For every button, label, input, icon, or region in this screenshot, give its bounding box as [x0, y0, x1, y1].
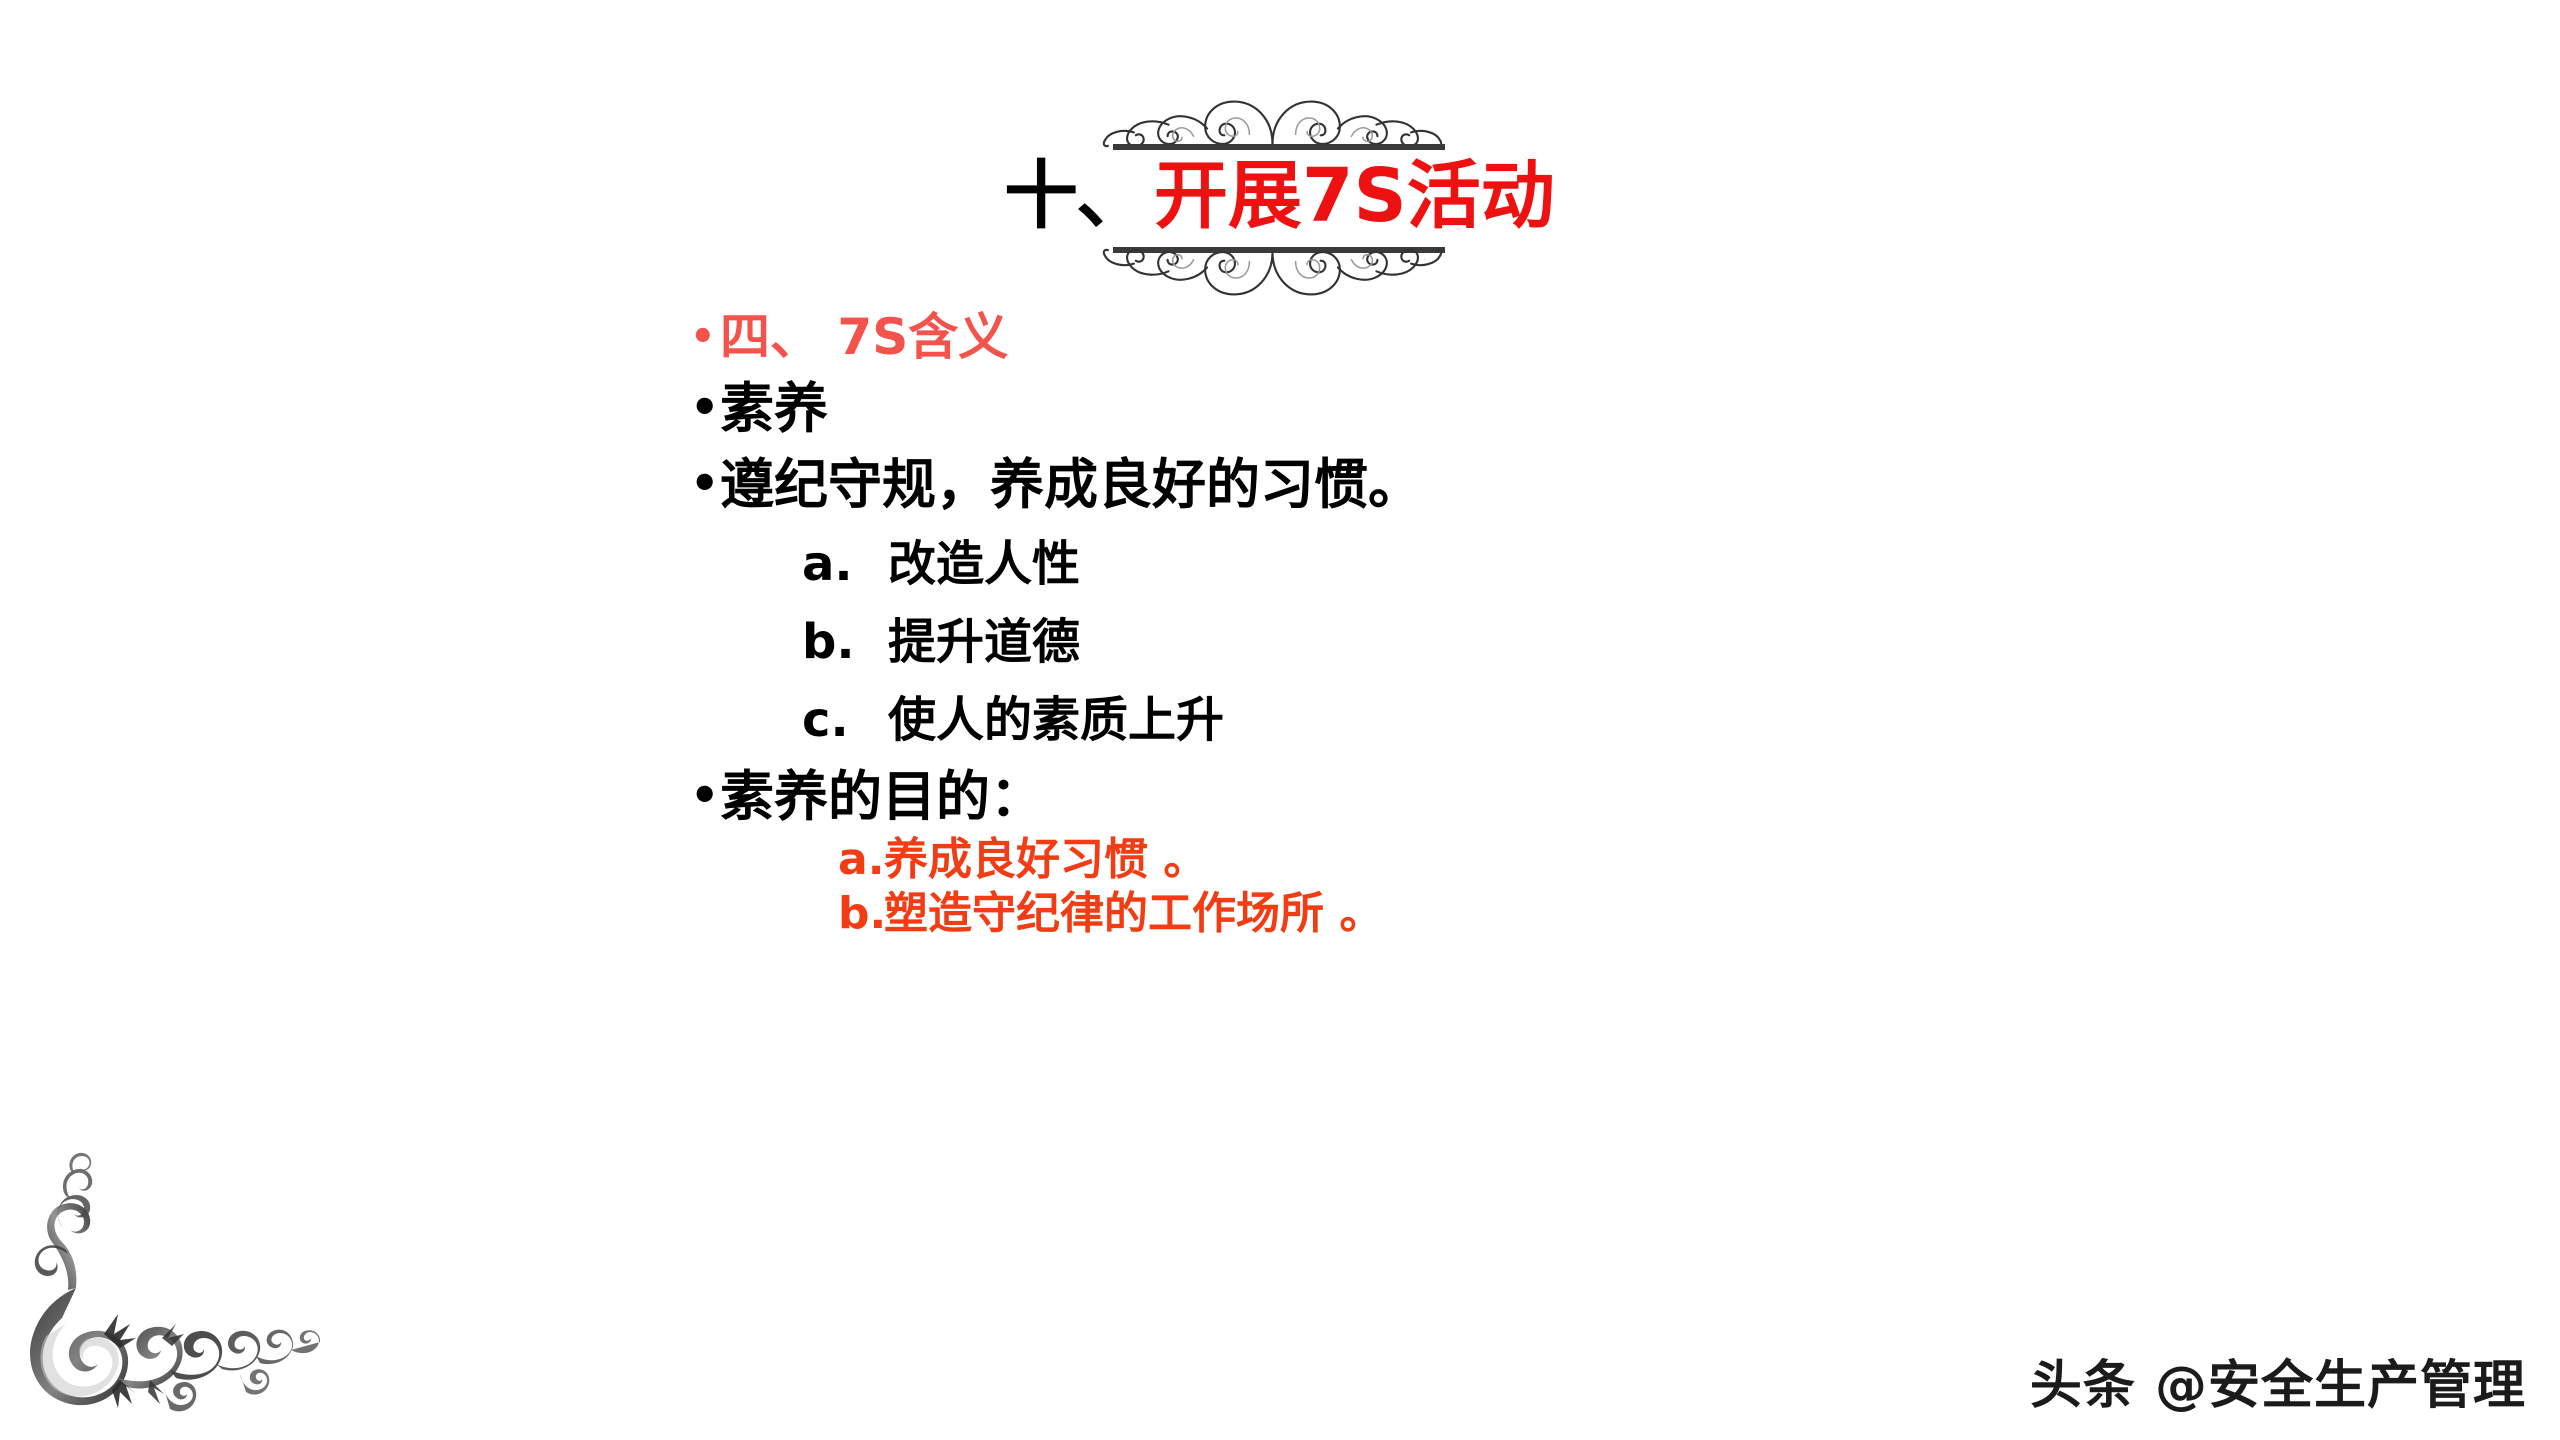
- bullet-item-7s-meaning: • 四、 7S含义: [690, 312, 2190, 362]
- sub-item-b-improve-morality: b. 提升道德: [690, 618, 2190, 666]
- purpose-item-b-disciplined-workplace: b. 塑造守纪律的工作场所 。: [690, 892, 2190, 936]
- list-marker: b.: [838, 892, 884, 936]
- bullet-dot-icon: •: [690, 460, 720, 506]
- title-main: 开展7S活动: [1154, 159, 1555, 233]
- bullet-item-discipline: • 遵纪守规，养成良好的习惯。: [690, 458, 2190, 512]
- slide-body: • 四、 7S含义 • 素养 • 遵纪守规，养成良好的习惯。 a. 改造人性 b…: [690, 312, 2190, 936]
- list-marker: a.: [838, 838, 884, 882]
- bullet-item-suyang: • 素养: [690, 382, 2190, 436]
- corner-flourish-icon: [14, 1142, 334, 1432]
- bullet-label: 遵纪守规，养成良好的习惯。: [720, 458, 1422, 512]
- slide-title-block: 十、 开展7S活动: [1020, 86, 1580, 316]
- watermark-text: 头条 @安全生产管理: [2030, 1343, 2526, 1418]
- flourish-swirl-icon: [1080, 86, 1465, 148]
- bullet-label: 四、 7S含义: [720, 312, 1008, 362]
- slide-canvas: 十、 开展7S活动: [0, 0, 2560, 1440]
- list-marker: a.: [802, 540, 888, 588]
- page-title: 十、 开展7S活动: [1004, 144, 1604, 248]
- flourish-swirl-icon: [1080, 248, 1465, 310]
- title-rule-bottom: [1113, 247, 1445, 253]
- sub-item-label: 改造人性: [888, 540, 1080, 588]
- sub-item-c-raise-quality: c. 使人的素质上升: [690, 696, 2190, 744]
- bullet-dot-icon: •: [690, 317, 720, 357]
- bullet-label: 素养的目的：: [720, 770, 1044, 824]
- bullet-label: 素养: [720, 382, 828, 436]
- purpose-item-label: 塑造守纪律的工作场所 。: [884, 892, 1383, 936]
- sub-item-label: 提升道德: [888, 618, 1080, 666]
- bullet-dot-icon: •: [690, 384, 720, 430]
- bullet-item-purpose: • 素养的目的：: [690, 770, 2190, 824]
- list-marker: b.: [802, 618, 888, 666]
- bullet-dot-icon: •: [690, 772, 720, 818]
- purpose-item-a-good-habits: a. 养成良好习惯 。: [690, 838, 2190, 882]
- sub-item-label: 使人的素质上升: [888, 696, 1224, 744]
- list-marker: c.: [802, 696, 888, 744]
- title-prefix: 十、: [1004, 159, 1148, 233]
- sub-item-a-reform-human-nature: a. 改造人性: [690, 540, 2190, 588]
- purpose-item-label: 养成良好习惯 。: [884, 838, 1207, 882]
